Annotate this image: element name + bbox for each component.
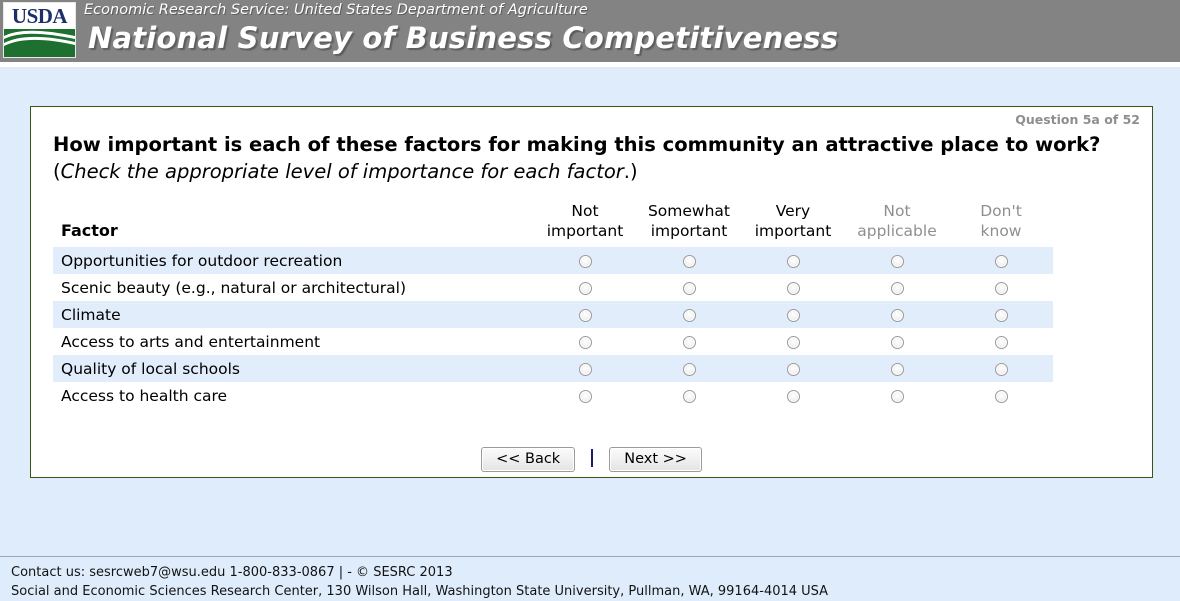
radio-cell[interactable] xyxy=(533,382,637,409)
column-header-line2: important xyxy=(547,222,624,240)
radio-cell[interactable] xyxy=(845,382,949,409)
factor-label: Climate xyxy=(53,301,533,328)
question-text: How important is each of these factors f… xyxy=(53,131,1113,185)
radio-not-important[interactable] xyxy=(579,363,592,376)
radio-cell[interactable] xyxy=(741,301,845,328)
factor-label: Access to health care xyxy=(53,382,533,409)
radio-very-important[interactable] xyxy=(787,282,800,295)
column-header-line2: important xyxy=(651,222,728,240)
column-header-line1: Don't xyxy=(980,202,1022,220)
factor-label: Opportunities for outdoor recreation xyxy=(53,247,533,274)
question-paren-close: .) xyxy=(624,160,638,183)
radio-cell[interactable] xyxy=(533,301,637,328)
column-header-not-important: Not important xyxy=(533,201,637,247)
next-button[interactable]: Next >> xyxy=(609,447,702,472)
radio-cell[interactable] xyxy=(533,274,637,301)
usda-logo: USDA xyxy=(3,2,76,58)
radio-cell[interactable] xyxy=(533,355,637,382)
radio-cell[interactable] xyxy=(845,328,949,355)
question-main: How important is each of these factors f… xyxy=(53,133,1100,156)
column-header-line1: Not xyxy=(571,202,598,220)
radio-cell[interactable] xyxy=(637,247,741,274)
column-header-not-applicable: Not applicable xyxy=(845,201,949,247)
radio-cell[interactable] xyxy=(533,328,637,355)
site-header: USDA Economic Research Service: United S… xyxy=(0,0,1180,62)
column-header-line2: important xyxy=(755,222,832,240)
header-subtitle: Economic Research Service: United States… xyxy=(84,2,588,18)
radio-dont-know[interactable] xyxy=(995,336,1008,349)
radio-somewhat-important[interactable] xyxy=(683,336,696,349)
column-header-somewhat-important: Somewhat important xyxy=(637,201,741,247)
column-header-line1: Very xyxy=(776,202,810,220)
site-footer: Contact us: sesrcweb7@wsu.edu 1-800-833-… xyxy=(11,563,828,601)
table-row: Access to arts and entertainment xyxy=(53,328,1053,355)
radio-cell[interactable] xyxy=(845,247,949,274)
radio-cell[interactable] xyxy=(949,274,1053,301)
footer-contact-line: Contact us: sesrcweb7@wsu.edu 1-800-833-… xyxy=(11,563,828,582)
radio-cell[interactable] xyxy=(949,355,1053,382)
radio-cell[interactable] xyxy=(637,355,741,382)
radio-not-applicable[interactable] xyxy=(891,255,904,268)
nav-separator xyxy=(591,449,593,467)
table-body: Opportunities for outdoor recreation Sce… xyxy=(53,247,1053,409)
radio-cell[interactable] xyxy=(637,274,741,301)
radio-not-applicable[interactable] xyxy=(891,309,904,322)
radio-not-applicable[interactable] xyxy=(891,282,904,295)
radio-not-applicable[interactable] xyxy=(891,336,904,349)
radio-cell[interactable] xyxy=(533,247,637,274)
radio-very-important[interactable] xyxy=(787,309,800,322)
factor-label: Access to arts and entertainment xyxy=(53,328,533,355)
radio-not-important[interactable] xyxy=(579,309,592,322)
table-row: Climate xyxy=(53,301,1053,328)
factors-grid: Factor Not important Somewhat important … xyxy=(53,201,1053,409)
radio-somewhat-important[interactable] xyxy=(683,282,696,295)
table-row: Access to health care xyxy=(53,382,1053,409)
back-button[interactable]: << Back xyxy=(481,447,575,472)
radio-somewhat-important[interactable] xyxy=(683,390,696,403)
radio-somewhat-important[interactable] xyxy=(683,309,696,322)
column-header-line1: Not xyxy=(883,202,910,220)
navigation-bar: << BackNext >> xyxy=(31,447,1152,472)
usda-logo-text: USDA xyxy=(4,4,75,28)
radio-not-important[interactable] xyxy=(579,255,592,268)
radio-dont-know[interactable] xyxy=(995,309,1008,322)
radio-very-important[interactable] xyxy=(787,363,800,376)
radio-cell[interactable] xyxy=(741,247,845,274)
radio-not-applicable[interactable] xyxy=(891,390,904,403)
radio-somewhat-important[interactable] xyxy=(683,363,696,376)
radio-not-important[interactable] xyxy=(579,390,592,403)
radio-cell[interactable] xyxy=(741,355,845,382)
radio-cell[interactable] xyxy=(949,382,1053,409)
radio-cell[interactable] xyxy=(741,328,845,355)
table-head: Factor Not important Somewhat important … xyxy=(53,201,1053,247)
radio-cell[interactable] xyxy=(637,301,741,328)
radio-cell[interactable] xyxy=(949,328,1053,355)
radio-very-important[interactable] xyxy=(787,336,800,349)
radio-not-applicable[interactable] xyxy=(891,363,904,376)
radio-cell[interactable] xyxy=(845,274,949,301)
column-header-factor: Factor xyxy=(53,201,533,247)
radio-cell[interactable] xyxy=(637,382,741,409)
radio-not-important[interactable] xyxy=(579,336,592,349)
radio-cell[interactable] xyxy=(741,382,845,409)
table-row: Scenic beauty (e.g., natural or architec… xyxy=(53,274,1053,301)
radio-dont-know[interactable] xyxy=(995,282,1008,295)
column-header-line2: applicable xyxy=(857,222,937,240)
footer-address-line: Social and Economic Sciences Research Ce… xyxy=(11,582,828,601)
column-header-line2: know xyxy=(981,222,1022,240)
radio-dont-know[interactable] xyxy=(995,255,1008,268)
question-hint: Check the appropriate level of importanc… xyxy=(61,160,624,183)
footer-divider xyxy=(0,556,1180,557)
usda-logo-field-graphic xyxy=(4,29,75,57)
radio-very-important[interactable] xyxy=(787,390,800,403)
factor-label: Quality of local schools xyxy=(53,355,533,382)
radio-dont-know[interactable] xyxy=(995,363,1008,376)
column-header-very-important: Very important xyxy=(741,201,845,247)
radio-cell[interactable] xyxy=(637,328,741,355)
radio-not-important[interactable] xyxy=(579,282,592,295)
radio-cell[interactable] xyxy=(949,247,1053,274)
radio-cell[interactable] xyxy=(949,301,1053,328)
question-paren-open: ( xyxy=(53,160,61,183)
radio-cell[interactable] xyxy=(845,355,949,382)
table-row: Opportunities for outdoor recreation xyxy=(53,247,1053,274)
column-header-dont-know: Don't know xyxy=(949,201,1053,247)
factors-table: Factor Not important Somewhat important … xyxy=(53,201,1053,409)
header-title: National Survey of Business Competitiven… xyxy=(88,21,838,55)
table-header-row: Factor Not important Somewhat important … xyxy=(53,201,1053,247)
radio-somewhat-important[interactable] xyxy=(683,255,696,268)
header-bottom-rule xyxy=(0,62,1180,67)
radio-cell[interactable] xyxy=(845,301,949,328)
radio-very-important[interactable] xyxy=(787,255,800,268)
table-row: Quality of local schools xyxy=(53,355,1053,382)
survey-card: Question 5a of 52 How important is each … xyxy=(30,106,1153,478)
radio-dont-know[interactable] xyxy=(995,390,1008,403)
radio-cell[interactable] xyxy=(741,274,845,301)
question-counter: Question 5a of 52 xyxy=(1015,112,1140,127)
factor-label: Scenic beauty (e.g., natural or architec… xyxy=(53,274,533,301)
column-header-line1: Somewhat xyxy=(648,202,730,220)
